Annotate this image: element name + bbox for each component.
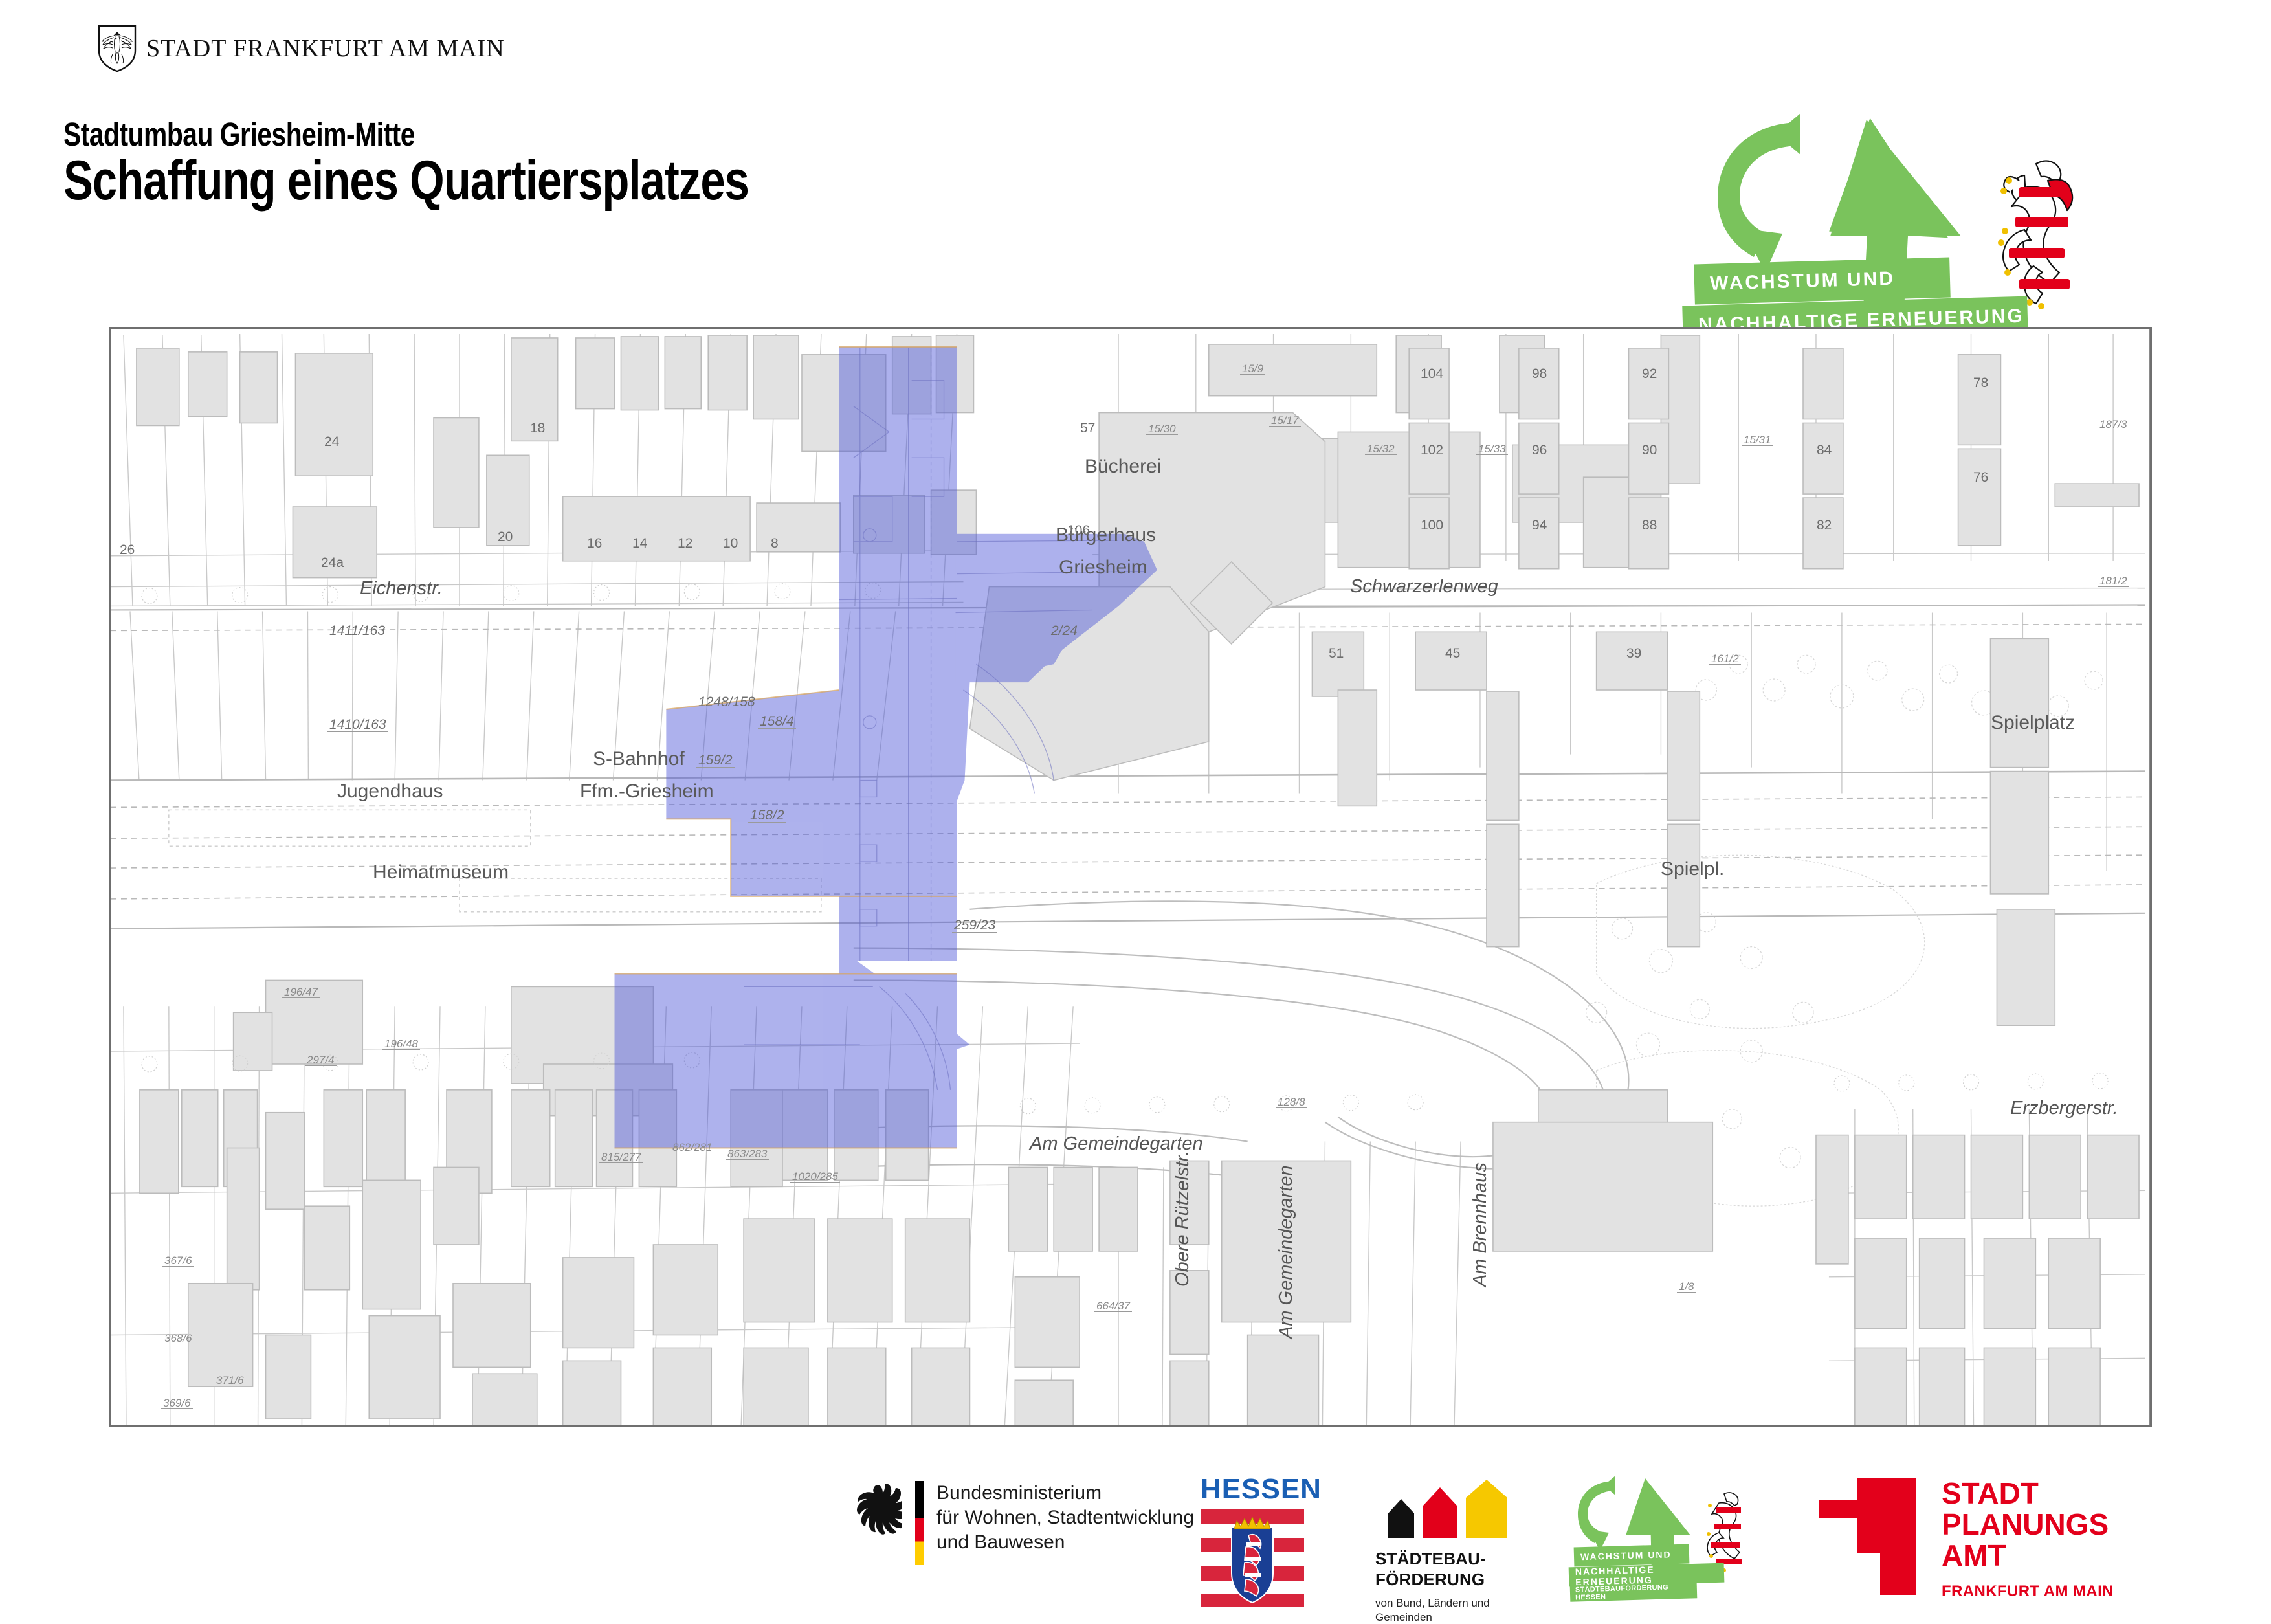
- parcel-number: 187/3: [2098, 418, 2129, 431]
- city-logo-wordmark: STADT FRANKFURT AM MAIN: [146, 34, 505, 63]
- house-number: 96: [1532, 443, 1547, 458]
- parcel-number: 181/2: [2098, 575, 2129, 588]
- parcel-number: 158/2: [748, 808, 786, 823]
- funder-logo-bar: Bundesministerium für Wohnen, Stadtentwi…: [0, 1469, 2271, 1605]
- parcel-number: 161/2: [1709, 652, 1741, 665]
- house-number: 94: [1532, 518, 1547, 533]
- poi-label-jugendhaus: Jugendhaus: [337, 781, 443, 803]
- parcel-number: 1248/158: [696, 695, 757, 710]
- street-label-schwarzerlenweg: Schwarzerlenweg: [1350, 576, 1498, 597]
- parcel-number: 368/6: [162, 1332, 194, 1345]
- page-title: Schaffung eines Quartiersplatzes: [63, 149, 749, 213]
- parcel-number: 196/48: [382, 1038, 420, 1051]
- spa-line-2: PLANUNGS: [1942, 1509, 2114, 1541]
- city-logo-frankfurt: FRANKFURT AM MAIN: [233, 35, 504, 62]
- parcel-num-top: 15/32: [1365, 443, 1397, 455]
- parcel-num-top: 1411/163: [327, 624, 387, 638]
- building-label: 39: [1626, 646, 1641, 662]
- parcel-number: 15/32: [1365, 443, 1397, 456]
- bmwsb-line-3: und Bauwesen: [936, 1530, 1194, 1555]
- poster-page: STADT FRANKFURT AM MAIN Stadtumbau Gries…: [0, 0, 2271, 1605]
- parcel-number: 128/8: [1276, 1096, 1307, 1109]
- parcel-number: 15/17: [1269, 414, 1301, 427]
- building-label: 20: [498, 529, 513, 545]
- parcel-num-top: 15/30: [1146, 423, 1178, 435]
- parcel-number: 259/23: [952, 918, 997, 933]
- parcel-num-top: 1/8: [1677, 1281, 1696, 1293]
- german-flag-bar-icon: [915, 1481, 924, 1565]
- poi-label-spielpl: Spielpl.: [1661, 858, 1724, 880]
- poi-label-ffm-griesheim: Ffm.-Griesheim: [580, 781, 714, 803]
- wachstum-small-line-2: NACHHALTIGE ERNEUERUNG: [1569, 1563, 1725, 1587]
- frankfurt-eagle-crest-icon: [97, 25, 137, 72]
- house-number: 104: [1421, 366, 1443, 382]
- parcel-number: 1020/285: [790, 1170, 840, 1183]
- parcel-num-top: 2/24: [1049, 624, 1080, 638]
- street-label-am-brennhaus: Am Brennhaus: [1470, 1162, 1491, 1287]
- building-label: 51: [1329, 646, 1344, 662]
- parcel-num-top: 368/6: [162, 1333, 194, 1344]
- poi-label-buecherei: Bücherei: [1085, 456, 1161, 478]
- parcel-num-top: 1020/285: [790, 1171, 840, 1183]
- poi-label-s-bahnhof: S-Bahnhof: [593, 748, 685, 770]
- stf-line-1: STÄDTEBAU-: [1375, 1549, 1537, 1570]
- parcel-number: 15/33: [1476, 443, 1508, 456]
- city-of-frankfurt-logo: STADT FRANKFURT AM MAIN: [97, 25, 505, 72]
- parcel-number: 367/6: [162, 1254, 194, 1267]
- parcel-num-top: 259/23: [952, 918, 997, 933]
- bmwsb-line-2: für Wohnen, Stadtentwicklung: [936, 1506, 1194, 1530]
- parcel-num-top: 297/4: [305, 1054, 337, 1066]
- parcel-num-top: 367/6: [162, 1255, 194, 1267]
- parcel-number: 863/283: [726, 1148, 769, 1161]
- parcel-num-top: 15/33: [1476, 443, 1508, 455]
- parcel-number: 196/47: [282, 986, 320, 999]
- house-number: 98: [1532, 366, 1547, 382]
- parcel-number: 1410/163: [327, 717, 388, 733]
- three-houses-icon: [1375, 1480, 1537, 1538]
- house-number: 102: [1421, 443, 1443, 458]
- house-number: 78: [1973, 375, 1988, 391]
- parcel-num-top: 664/37: [1094, 1300, 1132, 1312]
- parcel-number: 862/281: [670, 1141, 714, 1154]
- spa-subtitle: FRANKFURT AM MAIN: [1942, 1583, 2114, 1601]
- poi-label-heimatmuseum: Heimatmuseum: [373, 862, 509, 884]
- building-label: 10: [723, 536, 738, 551]
- house-number: 82: [1817, 518, 1832, 533]
- bundesministerium-logo: Bundesministerium für Wohnen, Stadtentwi…: [854, 1481, 1194, 1565]
- building-label: 24a: [321, 555, 344, 571]
- hessen-lion-icon: [1986, 152, 2089, 314]
- house-number: 84: [1817, 443, 1832, 458]
- parcel-num-top: 369/6: [161, 1397, 193, 1409]
- parcel-number: 1411/163: [327, 623, 387, 639]
- staedtebaufoerderung-logo: STÄDTEBAU- FÖRDERUNG von Bund, Ländern u…: [1375, 1480, 1537, 1624]
- parcel-num-top: 128/8: [1276, 1096, 1307, 1108]
- wachstum-badge-small: WACHSTUM UND NACHHALTIGE ERNEUERUNG STÄD…: [1573, 1476, 1767, 1599]
- stf-sub-2: Gemeinden: [1375, 1610, 1537, 1624]
- street-label-obere-ruetzelstr: Obere Rützelstr.: [1172, 1151, 1193, 1287]
- house-number: 92: [1642, 366, 1657, 382]
- badge-line-1: WACHSTUM UND: [1694, 257, 1951, 304]
- parcel-number: 158/4: [758, 714, 796, 729]
- parcel-num-top: 15/17: [1269, 415, 1301, 427]
- cadastral-map[interactable]: Eichenstr. Schwarzerlenweg Am Gemeindega…: [109, 327, 2152, 1427]
- hessen-logo: HESSEN: [1201, 1473, 1304, 1610]
- parcel-number: 1/8: [1677, 1280, 1696, 1293]
- parcel-num-top: 196/47: [282, 986, 320, 998]
- parcel-number: 297/4: [305, 1054, 337, 1067]
- federal-eagle-icon: [854, 1481, 902, 1537]
- street-label-erzbergerstr: Erzbergerstr.: [2010, 1098, 2118, 1119]
- building-label: 12: [678, 536, 692, 551]
- stadtplanungsamt-logo: STADT PLANUNGS AMT FRANKFURT AM MAIN: [1819, 1478, 2114, 1601]
- spa-line-1: STADT: [1942, 1478, 2114, 1509]
- parcel-num-top: 187/3: [2098, 419, 2129, 430]
- parcel-num-top: 196/48: [382, 1038, 420, 1050]
- building-label: 106: [1067, 523, 1090, 539]
- building-label: 26: [120, 542, 135, 558]
- poi-label-spielplatz: Spielplatz: [1991, 712, 2075, 734]
- parcel-num-top: 15/31: [1742, 434, 1773, 446]
- parcel-num-top: 15/9: [1240, 363, 1265, 375]
- parcel-number: 664/37: [1094, 1300, 1132, 1313]
- stf-sub-1: von Bund, Ländern und: [1375, 1596, 1537, 1610]
- parcel-number: 15/9: [1240, 362, 1265, 375]
- parcel-number: 15/30: [1146, 423, 1178, 436]
- parcel-num-top: 1248/158: [696, 695, 757, 709]
- building-label: 18: [530, 421, 545, 436]
- parcel-number: 159/2: [696, 753, 735, 768]
- parcel-num-top: 161/2: [1709, 653, 1741, 665]
- building-label: 8: [771, 536, 779, 551]
- parcel-num-top: 158/4: [758, 715, 796, 729]
- bundesministerium-label: Bundesministerium für Wohnen, Stadtentwi…: [936, 1481, 1194, 1555]
- parcel-num-top: 863/283: [726, 1148, 769, 1160]
- city-logo-stadt: STADT: [146, 35, 227, 62]
- stf-line-2: FÖRDERUNG: [1375, 1570, 1537, 1590]
- hessen-lion-small-icon: [1700, 1489, 1751, 1573]
- building-label: 14: [632, 536, 647, 551]
- house-number: 88: [1642, 518, 1657, 533]
- parcel-num-top: 862/281: [670, 1142, 714, 1153]
- parcel-number: 15/31: [1742, 434, 1773, 447]
- house-number: 76: [1973, 470, 1988, 485]
- poi-label-griesheim: Griesheim: [1059, 557, 1147, 579]
- hessen-coat-of-arms-icon: [1201, 1509, 1304, 1607]
- parcel-num-top: 371/6: [214, 1375, 246, 1386]
- building-label: 45: [1445, 646, 1460, 662]
- wachstum-small-line-3: STÄDTEBAUFÖRDERUNG HESSEN: [1570, 1583, 1698, 1601]
- staedtebaufoerderung-label: STÄDTEBAU- FÖRDERUNG: [1375, 1549, 1537, 1590]
- street-label-am-gemeindegarten-vertical: Am Gemeindegarten: [1276, 1165, 1297, 1339]
- parcel-num-top: 815/277: [599, 1151, 643, 1163]
- building-label: 24: [324, 434, 339, 450]
- hessen-wordmark: HESSEN: [1201, 1473, 1304, 1506]
- staedtebaufoerderung-sub: von Bund, Ländern und Gemeinden: [1375, 1596, 1537, 1624]
- project-kicker: Stadtumbau Griesheim-Mitte: [63, 115, 415, 153]
- house-number: 90: [1642, 443, 1657, 458]
- parcel-num-top: 158/2: [748, 808, 786, 823]
- spa-line-3: AMT: [1942, 1541, 2114, 1572]
- bmwsb-line-1: Bundesministerium: [936, 1481, 1194, 1506]
- parcel-num-top: 159/2: [696, 753, 735, 768]
- parcel-number: 369/6: [161, 1397, 193, 1410]
- parcel-number: 815/277: [599, 1151, 643, 1164]
- building-label: 16: [587, 536, 602, 551]
- parcel-number: 371/6: [214, 1374, 246, 1387]
- parcel-number: 2/24: [1049, 623, 1080, 639]
- parcel-num-top: 1410/163: [327, 718, 388, 732]
- stadtplanungsamt-mark-icon: [1819, 1478, 1916, 1595]
- stadtplanungsamt-label: STADT PLANUNGS AMT FRANKFURT AM MAIN: [1942, 1478, 2114, 1601]
- building-label: 57: [1080, 421, 1095, 436]
- street-label-eichenstr: Eichenstr.: [360, 578, 443, 599]
- parcel-num-top: 181/2: [2098, 575, 2129, 587]
- house-number: 100: [1421, 518, 1443, 533]
